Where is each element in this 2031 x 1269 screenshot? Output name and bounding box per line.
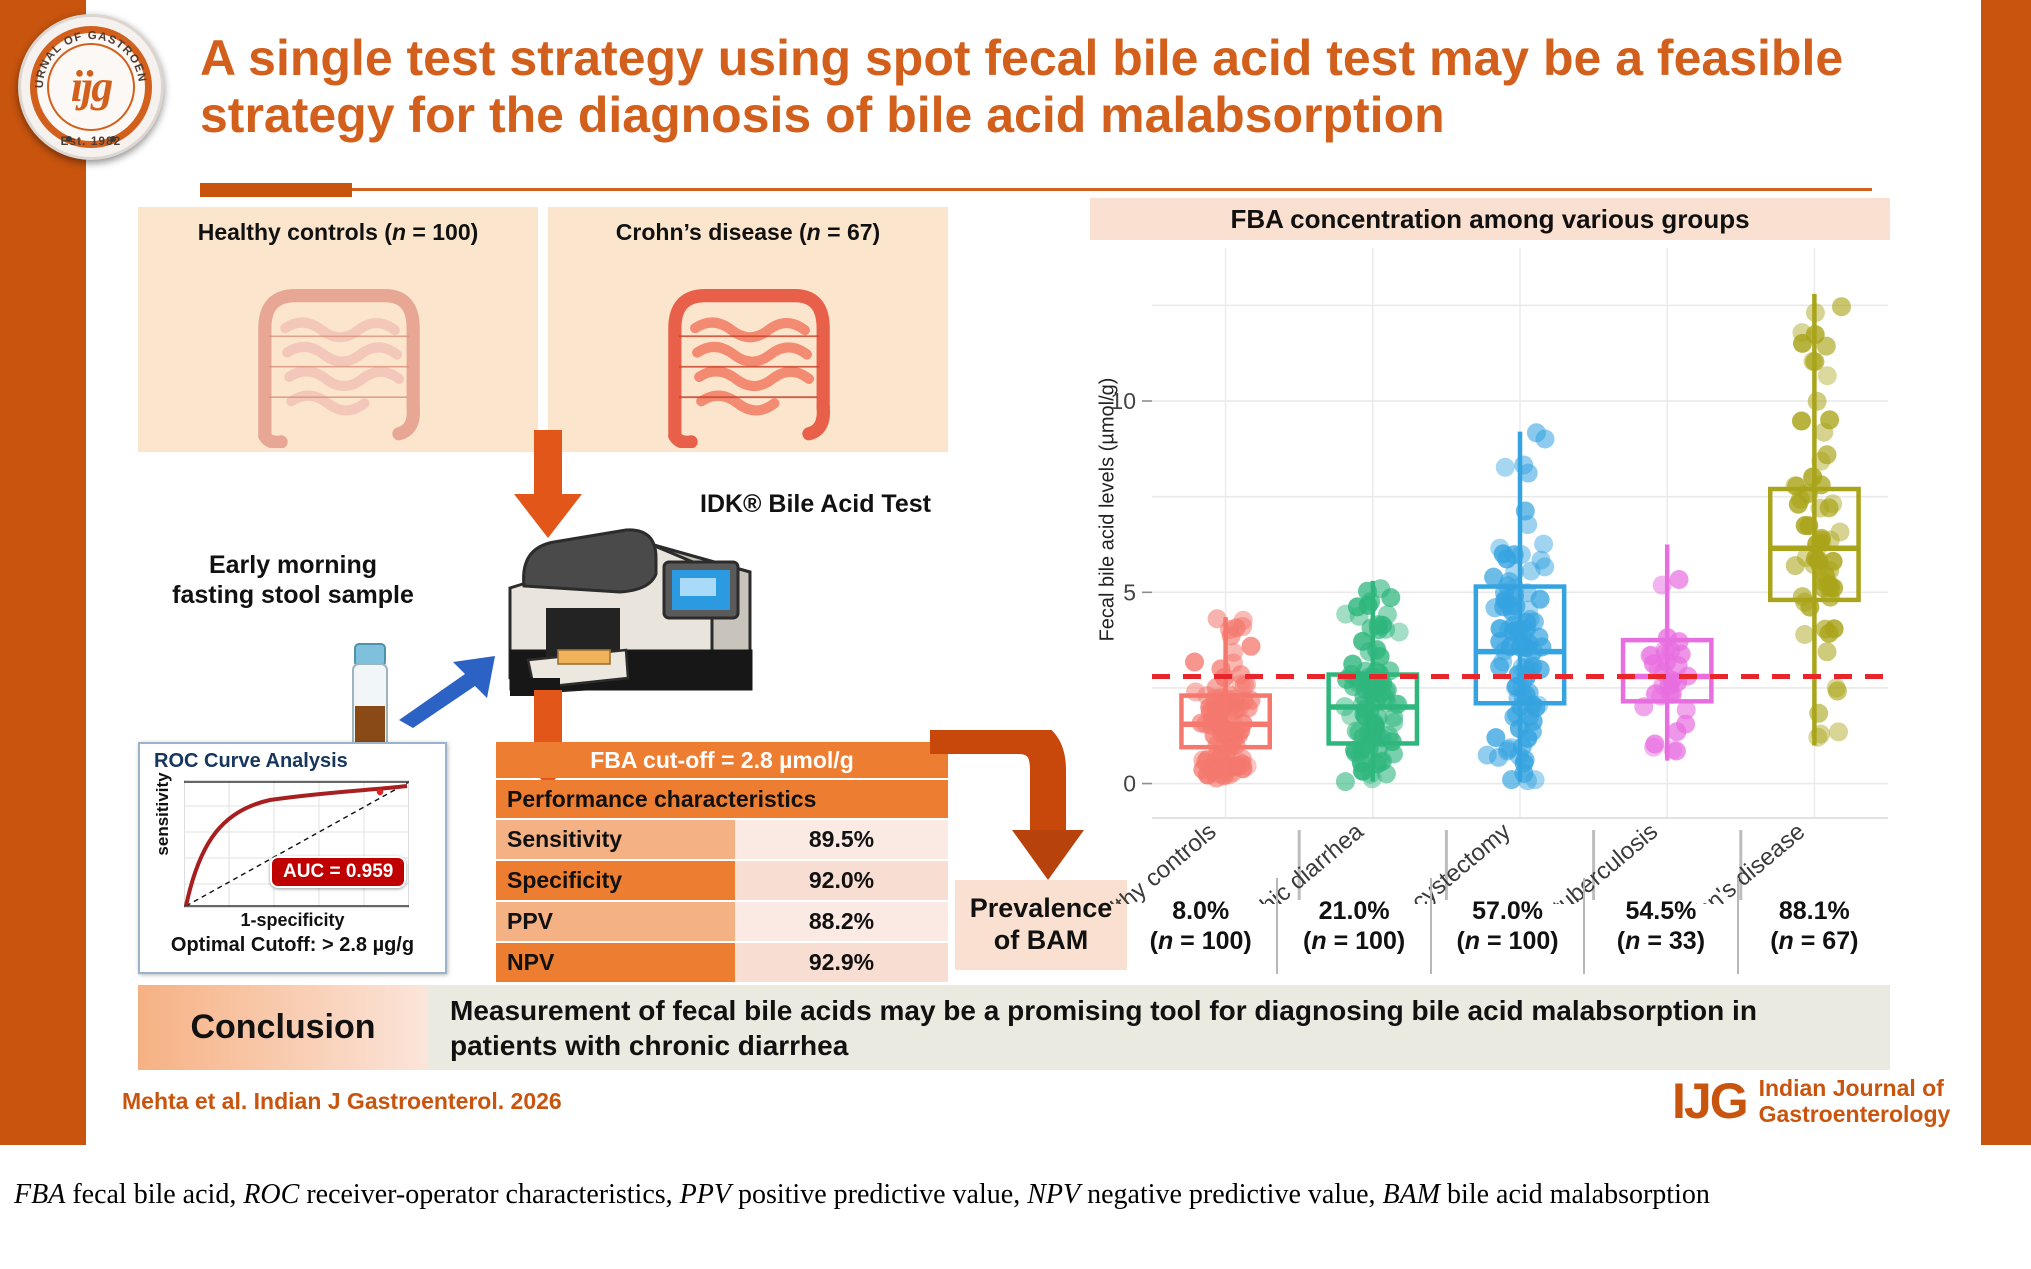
journal-mark: IJG [1672,1076,1747,1126]
table-row: Sensitivity 89.5% [496,820,948,859]
stat-n: (n = 33) [1617,926,1705,957]
panel-healthy-caption: Healthy controls (n = 100) [138,219,538,246]
stat-cell: 57.0% (n = 100) [1430,878,1583,974]
stat-pct: 57.0% [1472,896,1543,927]
panel-crohns-disease: Crohn’s disease (n = 67) [548,207,948,452]
stat-n: (n = 100) [1150,926,1252,957]
seal-est-text: Est. 1982 [61,136,122,148]
roc-ylabel: sensitivity [153,764,173,864]
left-accent-bar [0,0,86,1145]
title-rule-thick [200,183,352,197]
stat-cell: 88.1% (n = 67) [1737,878,1890,974]
stat-cell: 8.0% (n = 100) [1125,878,1276,974]
roc-xlabel: 1-specificity [140,910,445,931]
stat-cell: 54.5% (n = 33) [1583,878,1736,974]
conclusion-bar: Conclusion Measurement of fecal bile aci… [138,985,1890,1070]
graphical-abstract-poster: INDIAN JOURNAL OF GASTROENTEROLOGY Est. … [0,0,2031,1145]
colon-illustration-healthy [138,255,538,448]
page-title: A single test strategy using spot fecal … [200,30,1900,144]
stool-sample-label: Early morning fasting stool sample [168,550,418,610]
stat-n: (n = 67) [1770,926,1858,957]
roc-plot [184,780,409,908]
performance-table-header: Performance characteristics [496,780,948,818]
svg-text:0: 0 [1123,771,1136,797]
conclusion-label: Conclusion [138,985,428,1070]
metric-value: 88.2% [735,902,948,941]
stat-pct: 8.0% [1172,896,1229,927]
journal-name: Indian Journal of Gastroenterology [1759,1075,1951,1128]
roc-optimal-cutoff: Optimal Cutoff: > 2.8 µg/g [140,934,445,957]
metric-label: Sensitivity [496,820,735,859]
performance-table: FBA cut-off = 2.8 µmol/g Performance cha… [496,742,948,982]
conclusion-text: Measurement of fecal bile acids may be a… [428,985,1890,1070]
table-row: Specificity 92.0% [496,861,948,900]
prevalence-line-2: of BAM [994,925,1088,957]
roc-header: ROC Curve Analysis [154,750,348,773]
panel-crohns-caption: Crohn’s disease (n = 67) [548,219,948,246]
metric-label: PPV [496,902,735,941]
svg-text:5: 5 [1123,579,1136,605]
stat-cell: 21.0% (n = 100) [1276,878,1429,974]
title-rule-thin [352,188,1872,191]
fba-concentration-chart: FBA concentration among various groups F… [1090,198,1890,978]
metric-label: Specificity [496,861,735,900]
roc-auc-badge: AUC = 0.959 [270,856,406,888]
stat-pct: 88.1% [1779,896,1850,927]
panel-healthy-controls: Healthy controls (n = 100) [138,207,538,452]
chart-plot-area: 0510Healthy controlsIdiopathic diarrheaP… [1090,244,1890,904]
roc-curve-card: ROC Curve Analysis sensitivity AUC = 0.9… [138,742,447,974]
citation-text: Mehta et al. Indian J Gastroenterol. 202… [122,1088,562,1115]
journal-wordmark: IJG Indian Journal of Gastroenterology [1672,1075,1950,1128]
seal-monogram: ijg [21,61,161,112]
journal-seal-logo: INDIAN JOURNAL OF GASTROENTEROLOGY Est. … [18,14,164,160]
metric-label: NPV [496,943,735,982]
table-row: NPV 92.9% [496,943,948,982]
chart-title: FBA concentration among various groups [1090,198,1890,240]
metric-value: 89.5% [735,820,948,859]
metric-value: 92.0% [735,861,948,900]
right-accent-bar [1981,0,2031,1145]
prevalence-stats-row: 8.0% (n = 100) 21.0% (n = 100) 57.0% (n … [1125,878,1890,974]
fba-cutoff-banner: FBA cut-off = 2.8 µmol/g [496,742,948,778]
stat-pct: 54.5% [1625,896,1696,927]
stat-pct: 21.0% [1319,896,1390,927]
stat-n: (n = 100) [1456,926,1558,957]
table-row: PPV 88.2% [496,902,948,941]
metric-value: 92.9% [735,943,948,982]
colon-illustration-crohns [548,255,948,448]
svg-text:10: 10 [1110,388,1136,414]
figure-caption: FBA fecal bile acid, ROC receiver-operat… [14,1176,2004,1214]
sample-to-instrument-arrow [395,650,505,730]
stat-n: (n = 100) [1303,926,1405,957]
